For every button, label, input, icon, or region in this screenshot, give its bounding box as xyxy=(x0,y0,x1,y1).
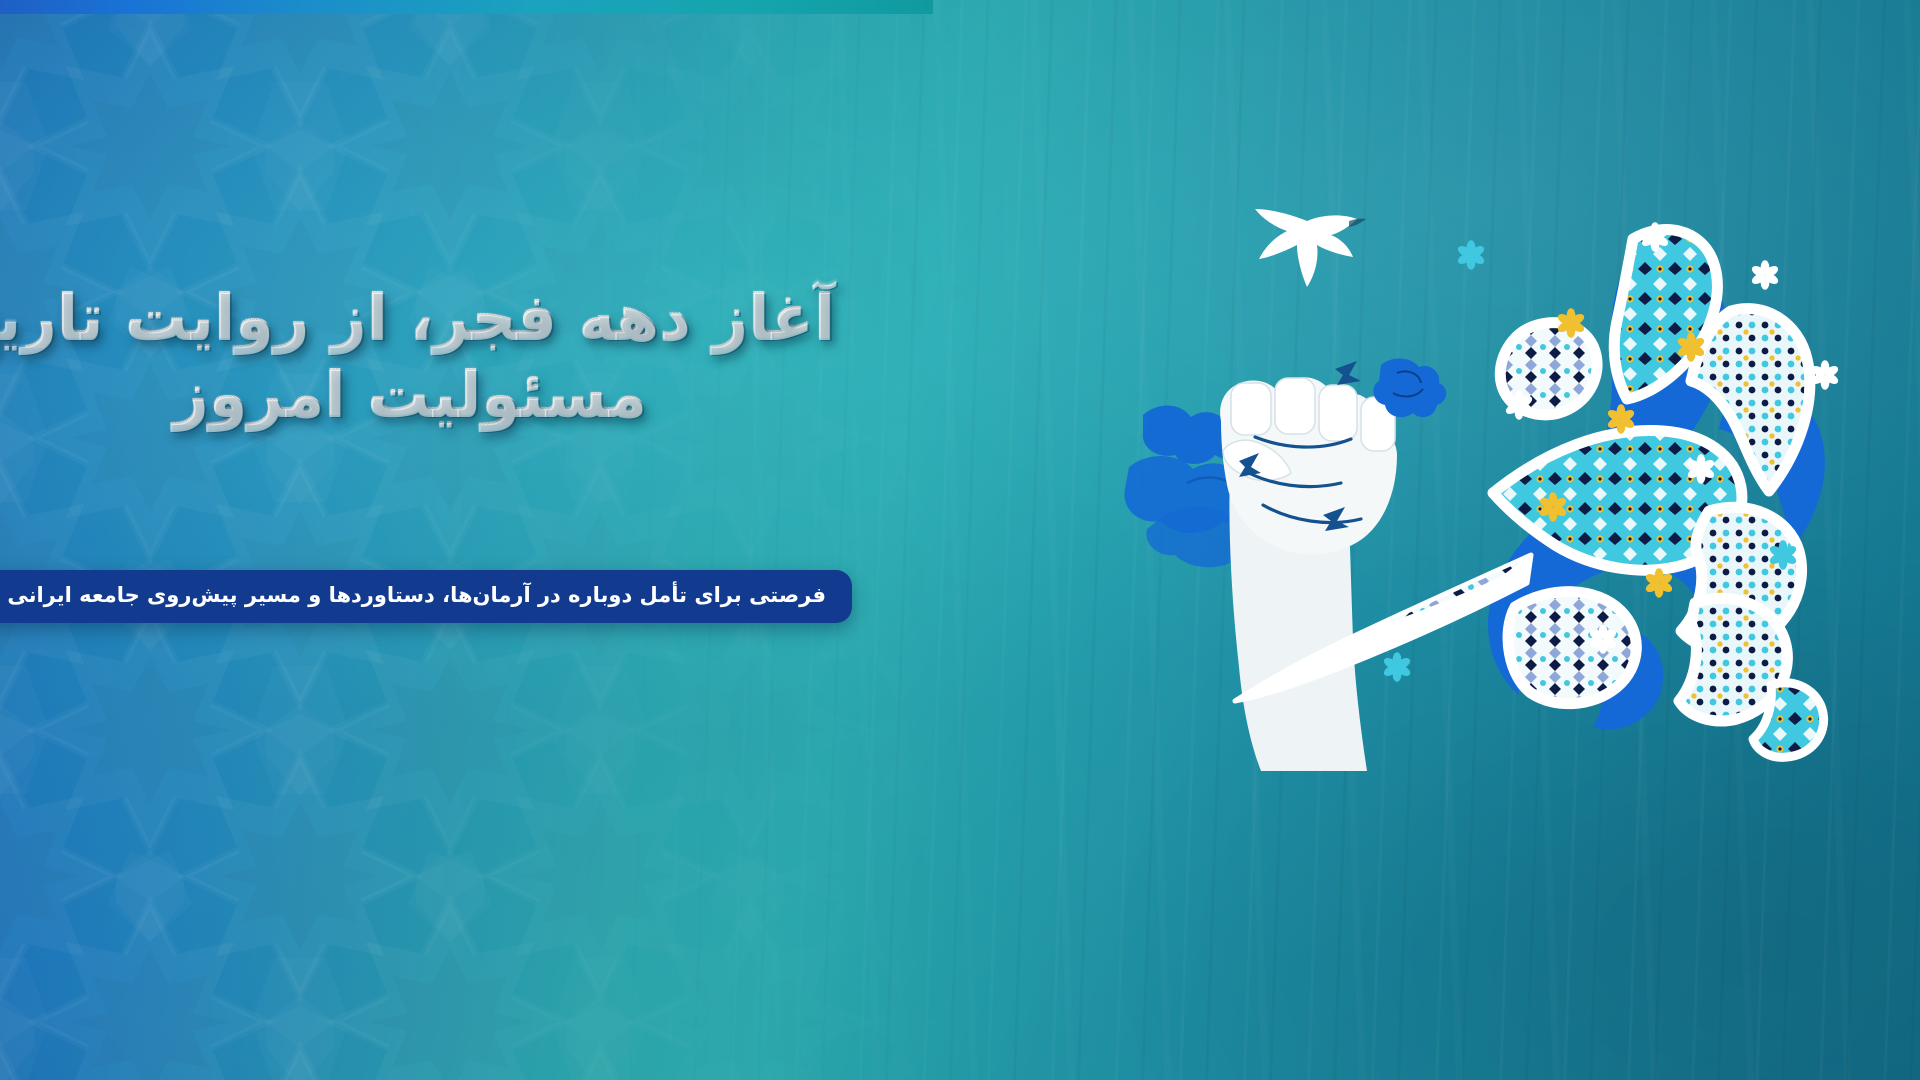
top-accent-strip xyxy=(0,0,933,14)
headline-line-1: آغاز دهه فجر، از روایت تاریخ تا xyxy=(25,285,835,348)
dove-icon xyxy=(1255,209,1366,287)
headline-line-2: مسئولیت امروز xyxy=(25,362,835,425)
subtitle-pill: فرصتی برای تأمل دوباره در آرمان‌ها، دستا… xyxy=(0,570,852,623)
subtitle-text: فرصتی برای تأمل دوباره در آرمان‌ها، دستا… xyxy=(7,583,826,607)
banner-stage: آغاز دهه فجر، از روایت تاریخ تا مسئولیت … xyxy=(0,0,1920,1080)
headline: آغاز دهه فجر، از روایت تاریخ تا مسئولیت … xyxy=(25,285,835,425)
fajr-calligraphy-artwork xyxy=(1135,215,1855,775)
raised-fist-icon xyxy=(1220,358,1446,771)
